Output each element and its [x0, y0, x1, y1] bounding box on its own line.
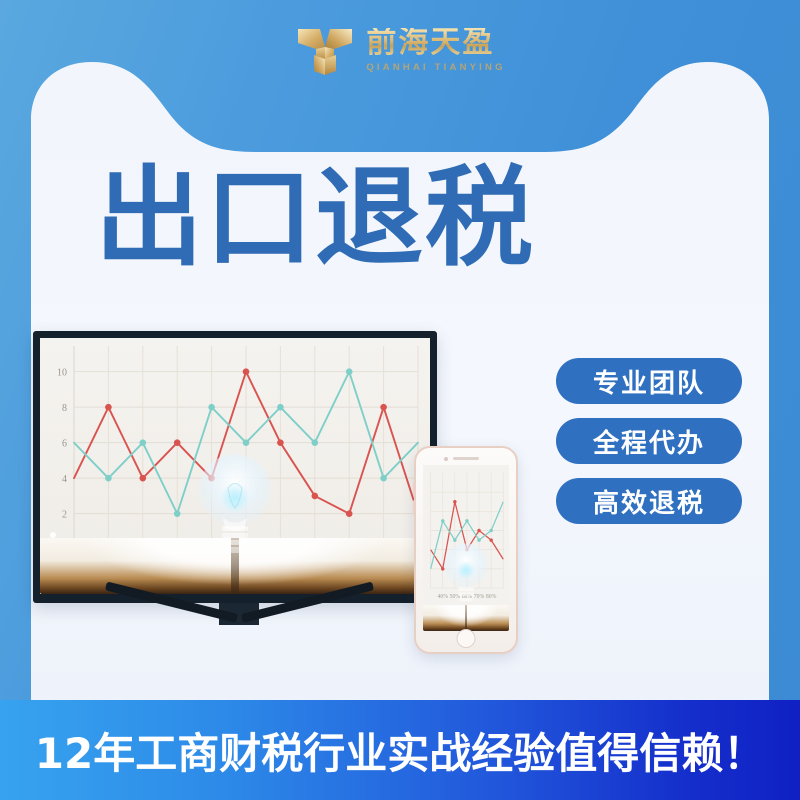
svg-text:40%: 40%	[438, 594, 449, 600]
svg-text:60%: 60%	[462, 594, 473, 600]
phone-camera-icon	[444, 457, 448, 461]
phone-chart-x-tick-labels: 40%50%60%70%80%	[438, 594, 497, 600]
chart-y-tick-labels: 0246810	[57, 368, 67, 556]
svg-text:10: 10	[57, 368, 67, 379]
feature-badges: 专业团队 全程代办 高效退税	[556, 358, 742, 524]
svg-text:50%: 50%	[450, 594, 461, 600]
badge-efficient-refund[interactable]: 高效退税	[556, 478, 742, 524]
brand-text: 前海天盈 QIANHAI TIANYING	[366, 28, 505, 73]
monitor-screen: 0246810 10%20%30%40%50%60%70%80%90%100%	[40, 338, 430, 594]
svg-text:4: 4	[62, 474, 67, 485]
poster-root: 前海天盈 QIANHAI TIANYING 出口退税 0246810 10%20…	[0, 0, 800, 800]
smartphone: 40%50%60%70%80%	[414, 446, 518, 654]
badge-label: 全程代办	[593, 423, 705, 460]
chart-gridlines	[74, 346, 418, 549]
phone-volume-up-button[interactable]	[413, 482, 416, 495]
page-title: 出口退税	[95, 165, 535, 273]
monitor-bezel: 0246810 10%20%30%40%50%60%70%80%90%100%	[33, 331, 437, 603]
footer-banner: 12年工商财税行业实战经验值得信赖！	[0, 700, 800, 800]
svg-text:80%: 80%	[486, 594, 497, 600]
footer-text: 12年工商财税行业实战经验值得信赖！	[35, 720, 765, 781]
brand-name-en: QIANHAI TIANYING	[366, 63, 505, 73]
brand-logo: 前海天盈 QIANHAI TIANYING	[0, 14, 800, 86]
badge-professional-team[interactable]: 专业团队	[556, 358, 742, 404]
brand-name-cn: 前海天盈	[366, 28, 505, 58]
phone-open-book-icon	[423, 605, 509, 631]
phone-home-button[interactable]	[457, 629, 476, 648]
phone-body: 40%50%60%70%80%	[414, 446, 518, 654]
svg-text:70%: 70%	[474, 594, 485, 600]
badge-label: 专业团队	[593, 363, 705, 400]
svg-text:2: 2	[62, 510, 67, 521]
phone-screen: 40%50%60%70%80%	[423, 465, 509, 631]
phone-volume-down-button[interactable]	[413, 500, 416, 513]
qianhai-tianying-logo-icon	[294, 19, 356, 81]
svg-text:6: 6	[62, 439, 67, 450]
desktop-monitor: 0246810 10%20%30%40%50%60%70%80%90%100%	[33, 331, 437, 603]
phone-speaker-icon	[453, 457, 479, 460]
badge-full-agency[interactable]: 全程代办	[556, 418, 742, 464]
svg-text:8: 8	[62, 403, 67, 414]
badge-label: 高效退税	[593, 483, 705, 520]
